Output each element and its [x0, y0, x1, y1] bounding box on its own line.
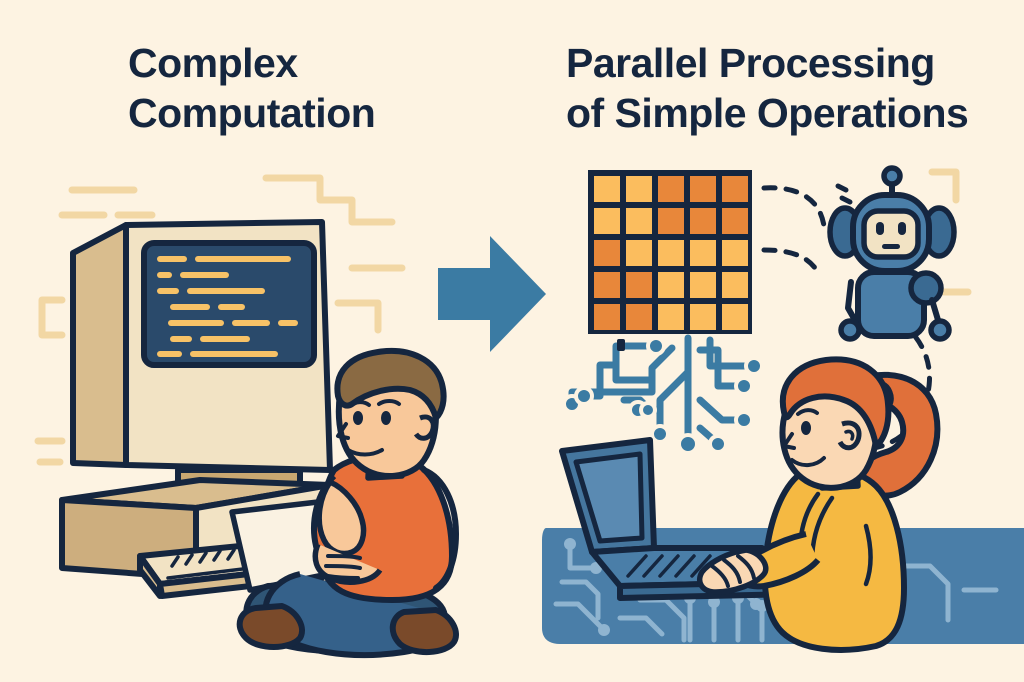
title-left-line2: Computation [128, 88, 508, 138]
title-left: Complex Computation [128, 38, 508, 138]
illustration-canvas: Complex Computation Parallel Processing … [0, 0, 1024, 682]
ear-girl [840, 423, 859, 448]
title-right: Parallel Processing of Simple Operations [566, 38, 1016, 138]
title-right-line1: Parallel Processing [566, 38, 1016, 88]
title-left-line1: Complex [128, 38, 508, 88]
title-right-line2: of Simple Operations [566, 88, 1016, 138]
eye-girl [801, 421, 811, 435]
